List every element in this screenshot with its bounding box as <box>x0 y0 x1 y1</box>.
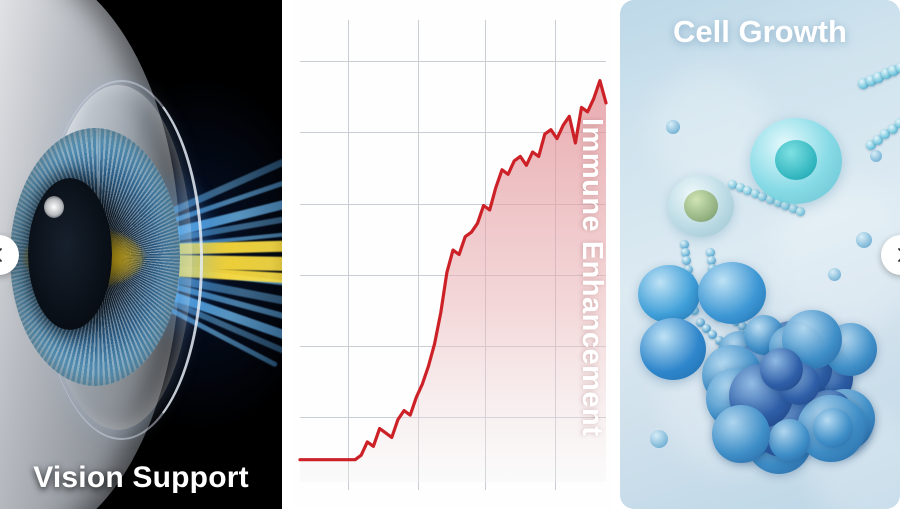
slide-caption-cell: Cell Growth <box>620 14 900 50</box>
slide-cell-growth[interactable]: Cell Growth <box>620 0 900 509</box>
dna-bead <box>895 118 900 128</box>
stem-cell-small-nucleus <box>684 190 718 222</box>
floating-cell <box>828 268 841 281</box>
pupil-highlight-icon <box>44 196 64 218</box>
cluster-cell <box>813 408 853 448</box>
eye-illustration <box>0 0 282 509</box>
cell-illustration <box>620 0 900 509</box>
dna-bead <box>682 256 691 265</box>
cluster-cell <box>712 405 769 462</box>
floating-cell <box>650 430 668 448</box>
slide-caption-immune: Immune Enhancement <box>577 118 606 436</box>
chart-area-fill <box>300 81 606 482</box>
cluster-cell <box>760 348 803 391</box>
floating-cell <box>666 120 680 134</box>
cluster-cell <box>769 419 811 461</box>
floating-cell <box>856 232 872 248</box>
slide-immune-enhancement[interactable]: Immune Enhancement <box>294 0 612 509</box>
pupil <box>28 178 112 330</box>
image-carousel[interactable]: Vision Support Immune Enhancement Cell G… <box>0 0 900 509</box>
blue-cell <box>698 262 766 324</box>
chevron-left-icon <box>0 248 6 262</box>
slide-vision-support[interactable]: Vision Support <box>0 0 282 509</box>
blue-cell <box>640 318 706 380</box>
blue-cell <box>638 265 700 323</box>
slide-caption-vision: Vision Support <box>0 461 282 495</box>
immune-enhancement-area-chart <box>294 0 612 509</box>
stem-cell-large-nucleus <box>775 140 817 180</box>
floating-cell <box>870 150 882 162</box>
chevron-right-icon <box>894 248 900 262</box>
